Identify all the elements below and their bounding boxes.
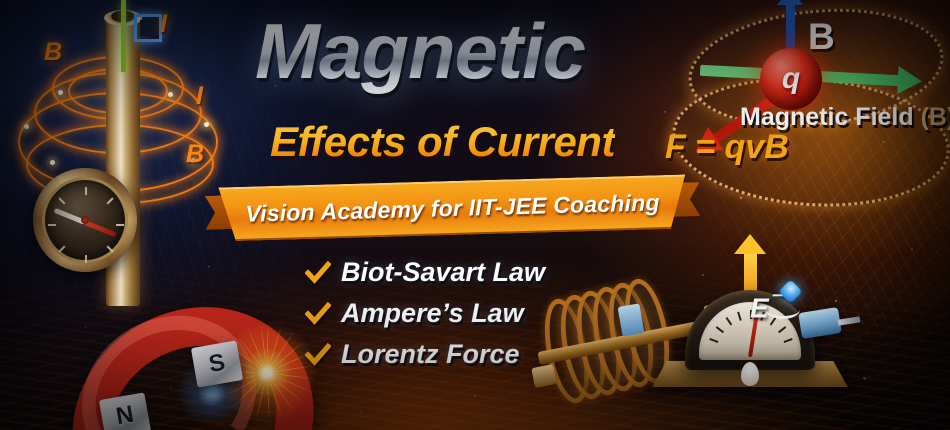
poster-banner: I B B I N S Magnetic Effect [0, 0, 950, 430]
compass-needle-red [84, 220, 116, 237]
b-field-label: B [808, 16, 835, 58]
list-item: Lorentz Force [305, 334, 545, 375]
check-icon [305, 301, 331, 327]
compass-icon [33, 168, 137, 272]
solenoid-cap-left [531, 364, 556, 388]
current-square-icon [134, 14, 162, 42]
list-item: Ampere’s Law [305, 293, 545, 334]
ribbon-label: Vision Academy for IIT-JEE Coaching [245, 189, 660, 228]
page-subtitle: Effects of Current [270, 118, 615, 166]
wire-green-core [121, 0, 126, 72]
lorentz-formula: F = qvB [665, 128, 789, 167]
list-item-label: Lorentz Force [341, 339, 520, 370]
current-label-I: I [160, 10, 167, 39]
page-title: Magnetic [255, 6, 585, 97]
compass-face [42, 177, 128, 263]
field-label-B-upper-left: B [44, 38, 62, 67]
galvanometer-pivot-cap [741, 362, 759, 386]
horseshoe-magnet-icon: N S [62, 300, 292, 430]
list-item: Biot-Savart Law [305, 252, 545, 293]
charge-label: q [782, 62, 800, 96]
compass-pivot [81, 216, 89, 224]
magnet-pole-south: S [191, 340, 243, 387]
list-item-label: Biot-Savart Law [341, 257, 545, 288]
check-icon [305, 260, 331, 286]
caption-suffix: (B) [921, 103, 950, 131]
current-label-I-right: I [196, 82, 203, 111]
pole-north-label: N [114, 401, 136, 430]
check-icon [305, 342, 331, 368]
electron-path-arc [766, 300, 800, 319]
magnet-pole-north: N [99, 392, 151, 430]
topic-list: Biot-Savart Law Ampere’s Law Lorentz For… [305, 252, 545, 375]
charge-sphere: q [760, 48, 822, 110]
b-field-arrow-icon [786, 2, 795, 52]
caption-text: Magnetic Field [740, 103, 914, 131]
list-item-label: Ampere’s Law [341, 298, 524, 329]
pole-south-label: S [207, 349, 228, 379]
field-label-B-right: B [186, 140, 204, 169]
